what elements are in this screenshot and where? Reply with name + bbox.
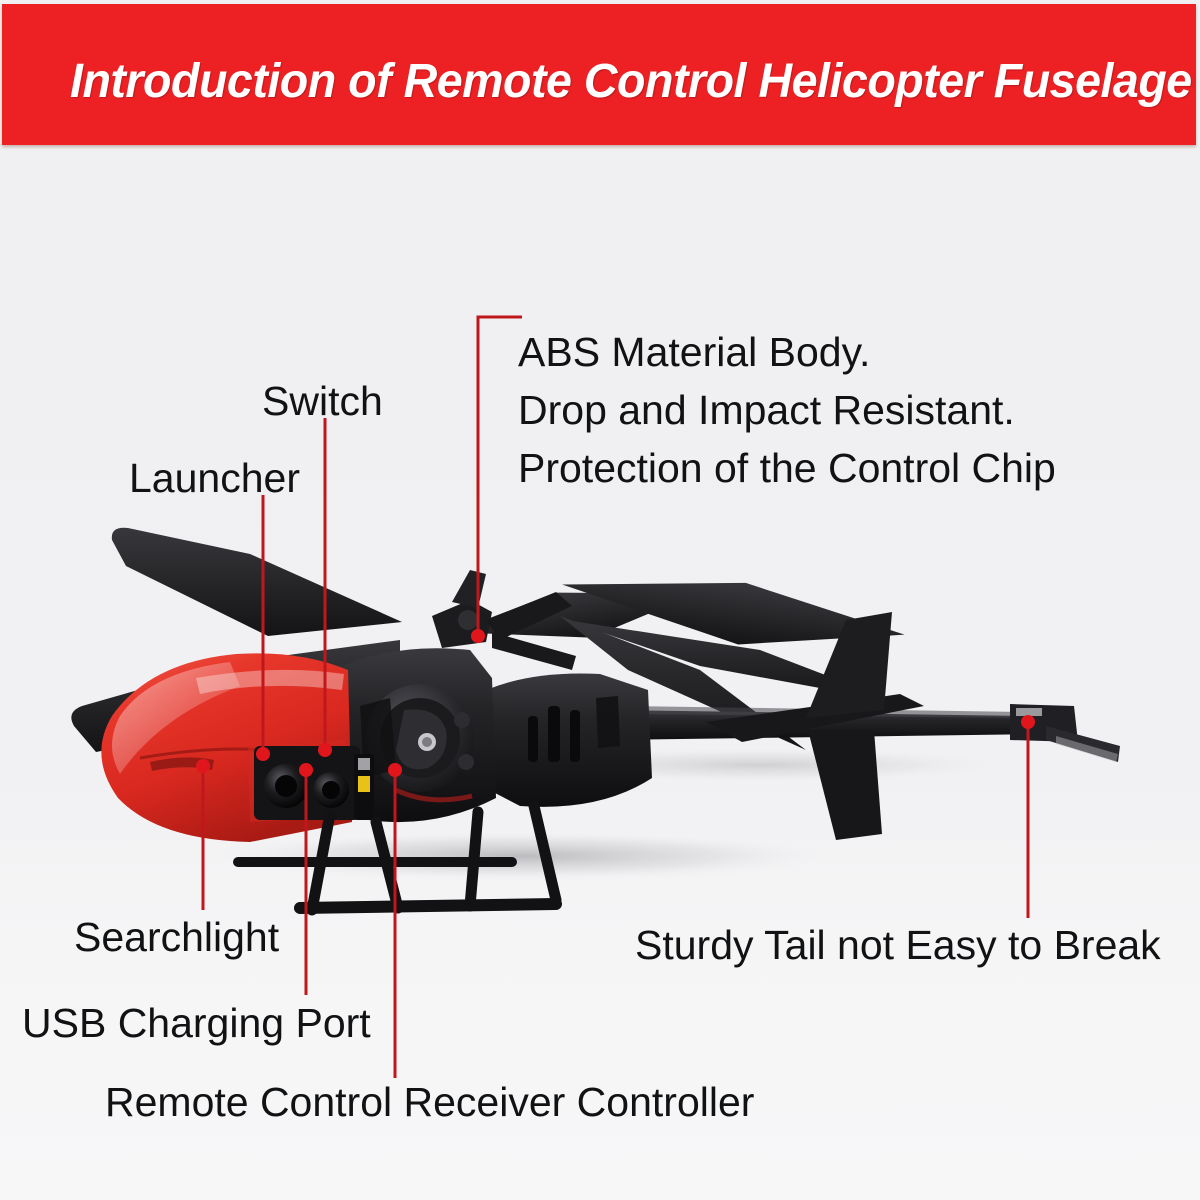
- ground-shadow: [190, 830, 850, 882]
- callout-label-tail: Sturdy Tail not Easy to Break: [635, 925, 1161, 966]
- page-title: Introduction of Remote Control Helicopte…: [70, 54, 1192, 109]
- port-cluster: [254, 746, 374, 820]
- title-banner: Introduction of Remote Control Helicopte…: [2, 4, 1196, 145]
- callout-label-receiver: Remote Control Receiver Controller: [105, 1082, 754, 1123]
- callout-label-abs-line-1: ABS Material Body.: [518, 332, 870, 373]
- callout-label-switch: Switch: [262, 381, 383, 422]
- callout-label-launcher: Launcher: [129, 458, 300, 499]
- infographic-canvas: Introduction of Remote Control Helicopte…: [0, 0, 1200, 1200]
- callout-label-abs-line-3: Protection of the Control Chip: [518, 448, 1056, 489]
- rear-fuselage: [470, 674, 652, 807]
- callout-label-abs-line-2: Drop and Impact Resistant.: [518, 390, 1015, 431]
- callout-label-searchlight: Searchlight: [74, 917, 279, 958]
- callout-label-usb: USB Charging Port: [22, 1003, 371, 1044]
- switch-indicator: [358, 776, 370, 792]
